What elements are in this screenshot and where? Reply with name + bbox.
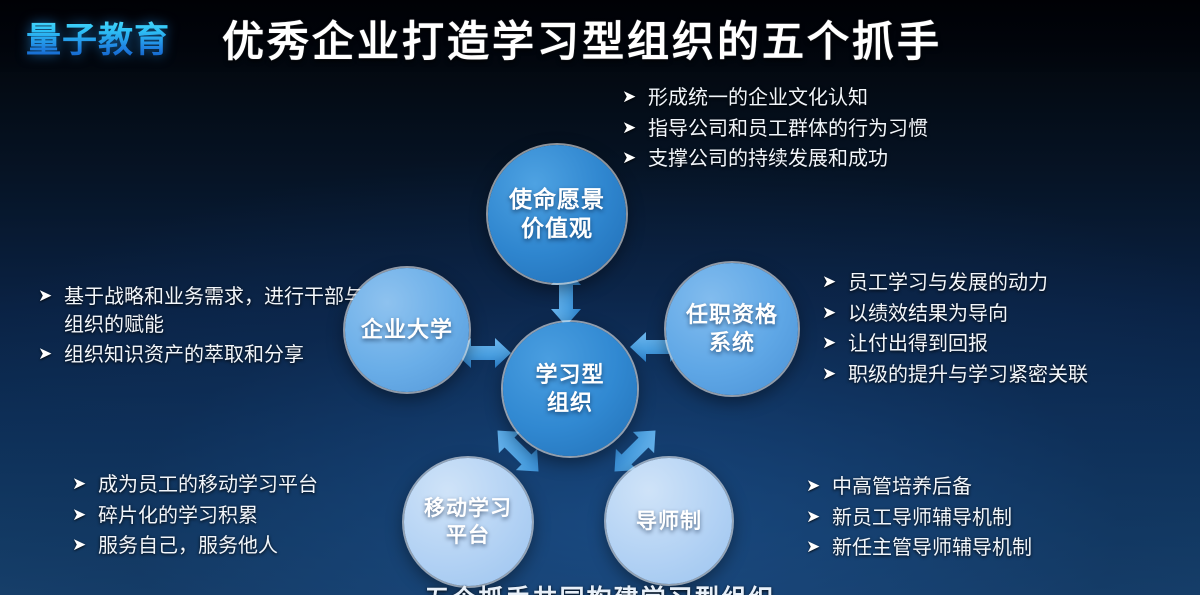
list-item: ➤ 指导公司和员工群体的行为习惯 — [622, 116, 962, 144]
node-mobile-learning-platform[interactable]: 移动学习 平台 — [404, 458, 532, 586]
node-learning-organization[interactable]: 学习型 组织 — [503, 322, 637, 456]
list-item: ➤ 服务自己，服务他人 — [72, 533, 402, 561]
bullet-arrow-icon: ➤ — [622, 85, 648, 111]
node-label-line1: 企业大学 — [361, 316, 453, 344]
bullet-text: 让付出得到回报 — [848, 331, 1192, 359]
bullet-text: 职级的提升与学习紧密关联 — [848, 362, 1192, 390]
node-label-line2: 平台 — [446, 522, 490, 549]
node-label-line1: 任职资格 — [686, 301, 778, 329]
bullet-text: 以绩效结果为导向 — [848, 301, 1192, 329]
slide-canvas: 量子教育 优秀企业打造学习型组织的五个抓手 ➤ 形成统一的企业文化认知 ➤ 指导… — [0, 0, 1200, 595]
bullet-group-mission-vision: ➤ 形成统一的企业文化认知 ➤ 指导公司和员工群体的行为习惯 ➤ 支撑公司的持续… — [622, 85, 962, 177]
footer-caption-cropped: 五个抓手共同构建学习型组织 — [0, 579, 1200, 595]
bullet-arrow-icon: ➤ — [72, 472, 98, 498]
bullet-arrow-icon: ➤ — [822, 270, 848, 296]
list-item: ➤ 形成统一的企业文化认知 — [622, 85, 962, 113]
bullet-arrow-icon: ➤ — [806, 535, 832, 561]
list-item: ➤ 新任主管导师辅导机制 — [806, 535, 1146, 563]
node-corporate-university[interactable]: 企业大学 — [345, 268, 469, 392]
bullet-arrow-icon: ➤ — [38, 342, 64, 368]
bullet-text: 服务自己，服务他人 — [98, 533, 402, 561]
bullet-arrow-icon: ➤ — [822, 331, 848, 357]
bullet-arrow-icon: ➤ — [72, 533, 98, 559]
list-item: ➤ 成为员工的移动学习平台 — [72, 472, 402, 500]
bullet-arrow-icon: ➤ — [822, 301, 848, 327]
bullet-group-corporate-university: ➤ 基于战略和业务需求，进行干部与组织的赋能 ➤ 组织知识资产的萃取和分享 — [38, 284, 368, 373]
list-item: ➤ 以绩效结果为导向 — [822, 301, 1192, 329]
node-mission-vision-values[interactable]: 使命愿景 价值观 — [488, 145, 626, 283]
bullet-group-qualification-system: ➤ 员工学习与发展的动力 ➤ 以绩效结果为导向 ➤ 让付出得到回报 ➤ 职级的提… — [822, 270, 1192, 392]
node-mentorship-system[interactable]: 导师制 — [606, 458, 732, 584]
list-item: ➤ 让付出得到回报 — [822, 331, 1192, 359]
bullet-group-mobile-learning: ➤ 成为员工的移动学习平台 ➤ 碎片化的学习积累 ➤ 服务自己，服务他人 — [72, 472, 402, 564]
list-item: ➤ 组织知识资产的萃取和分享 — [38, 342, 368, 370]
bullet-arrow-icon: ➤ — [806, 505, 832, 531]
bullet-arrow-icon: ➤ — [38, 284, 64, 310]
brand-logo: 量子教育 — [26, 12, 170, 63]
node-label-line2: 组织 — [547, 389, 593, 417]
bullet-text: 员工学习与发展的动力 — [848, 270, 1192, 298]
bullet-text: 中高管培养后备 — [832, 474, 1146, 502]
list-item: ➤ 职级的提升与学习紧密关联 — [822, 362, 1192, 390]
bullet-text: 指导公司和员工群体的行为习惯 — [648, 116, 962, 144]
bullet-text: 碎片化的学习积累 — [98, 503, 402, 531]
node-qualification-system[interactable]: 任职资格 系统 — [666, 263, 798, 395]
bullet-text: 组织知识资产的萃取和分享 — [64, 342, 368, 370]
list-item: ➤ 中高管培养后备 — [806, 474, 1146, 502]
list-item: ➤ 员工学习与发展的动力 — [822, 270, 1192, 298]
bullet-arrow-icon: ➤ — [622, 116, 648, 142]
bullet-group-mentorship: ➤ 中高管培养后备 ➤ 新员工导师辅导机制 ➤ 新任主管导师辅导机制 — [806, 474, 1146, 566]
list-item: ➤ 碎片化的学习积累 — [72, 503, 402, 531]
node-label-line1: 移动学习 — [424, 495, 512, 522]
bullet-arrow-icon: ➤ — [72, 503, 98, 529]
node-label-line1: 学习型 — [535, 361, 604, 389]
node-label-line2: 系统 — [709, 329, 755, 357]
bullet-text: 基于战略和业务需求，进行干部与组织的赋能 — [64, 284, 368, 339]
list-item: ➤ 基于战略和业务需求，进行干部与组织的赋能 — [38, 284, 368, 339]
bullet-text: 新员工导师辅导机制 — [832, 505, 1146, 533]
footer-caption-text: 五个抓手共同构建学习型组织 — [0, 579, 1200, 595]
page-title: 优秀企业打造学习型组织的五个抓手 — [222, 8, 942, 69]
node-label-line1: 使命愿景 — [509, 185, 605, 214]
bullet-text: 支撑公司的持续发展和成功 — [648, 146, 962, 174]
bullet-arrow-icon: ➤ — [622, 146, 648, 172]
slide-header: 量子教育 优秀企业打造学习型组织的五个抓手 — [0, 0, 1200, 72]
list-item: ➤ 支撑公司的持续发展和成功 — [622, 146, 962, 174]
bullet-arrow-icon: ➤ — [806, 474, 832, 500]
node-label-line2: 价值观 — [521, 214, 593, 243]
bullet-text: 成为员工的移动学习平台 — [98, 472, 402, 500]
bullet-text: 形成统一的企业文化认知 — [648, 85, 962, 113]
bullet-text: 新任主管导师辅导机制 — [832, 535, 1146, 563]
node-label-line1: 导师制 — [636, 508, 702, 535]
list-item: ➤ 新员工导师辅导机制 — [806, 505, 1146, 533]
bullet-arrow-icon: ➤ — [822, 362, 848, 388]
